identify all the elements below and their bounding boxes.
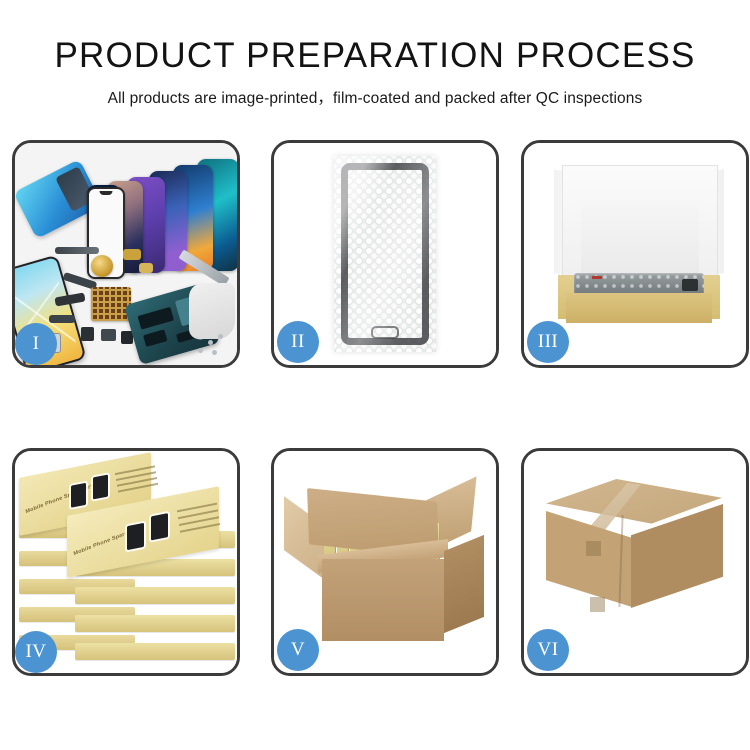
open-mailer-box-icon bbox=[554, 161, 724, 331]
camera-module-icon bbox=[123, 249, 141, 260]
step-badge-1: I bbox=[15, 323, 57, 365]
speaker-part-icon bbox=[101, 329, 116, 341]
box-stack-icon: Mobile Phone Spare Parts Mobile Phone Sp… bbox=[19, 465, 235, 661]
step-badge-5: V bbox=[277, 629, 319, 671]
open-carton-icon bbox=[288, 481, 484, 647]
bubble-wrap-icon bbox=[334, 156, 436, 352]
step-badge-4: IV bbox=[15, 631, 57, 673]
step-panel-6: VI bbox=[521, 448, 749, 676]
hand-icon bbox=[189, 283, 235, 339]
process-steps-grid: I II bbox=[0, 0, 750, 750]
coil-part-icon bbox=[91, 255, 113, 277]
step-panel-4: Mobile Phone Spare Parts Mobile Phone Sp… bbox=[12, 448, 240, 676]
camera-module-small-icon bbox=[139, 263, 153, 273]
step-badge-3: III bbox=[527, 321, 569, 363]
product-preparation-infographic: PRODUCT PREPARATION PROCESS All products… bbox=[0, 0, 750, 750]
step-panel-5: V bbox=[271, 448, 499, 676]
step-panel-1: I bbox=[12, 140, 240, 368]
step-badge-6: VI bbox=[527, 629, 569, 671]
flex-strip-icon bbox=[55, 247, 99, 254]
step-panel-3: III bbox=[521, 140, 749, 368]
step-badge-2: II bbox=[277, 321, 319, 363]
button-part-icon bbox=[81, 327, 94, 341]
connector-grid-icon bbox=[91, 287, 131, 321]
step-panel-2: II bbox=[271, 140, 499, 368]
flex-cable-c-icon bbox=[49, 315, 75, 323]
sealed-carton-icon bbox=[542, 479, 732, 645]
